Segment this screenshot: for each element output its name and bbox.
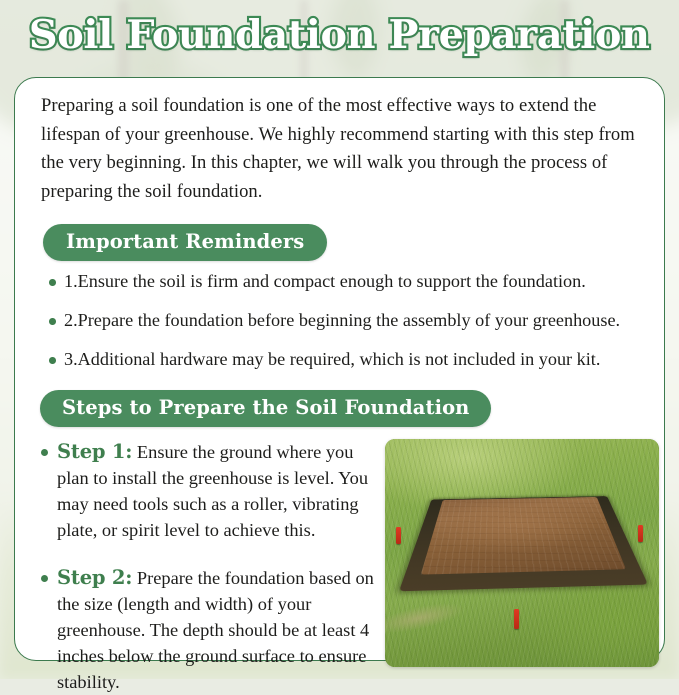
- page-title: Soil Foundation Preparation: [29, 11, 650, 59]
- photo-red-stake-bottom: [514, 609, 519, 629]
- content-card-inner: Preparing a soil foundation is one of th…: [15, 78, 664, 660]
- steps-area: Step 1: Ensure the ground where you plan…: [29, 439, 646, 695]
- step-item: Step 2: Prepare the foundation based on …: [39, 565, 381, 695]
- steps-text-column: Step 1: Ensure the ground where you plan…: [29, 439, 381, 695]
- foundation-pit-photo: [385, 439, 659, 667]
- list-item: 1.Ensure the soil is firm and compact en…: [49, 271, 646, 292]
- photo-red-stake-right: [638, 525, 643, 542]
- list-item: 3.Additional hardware may be required, w…: [49, 349, 646, 370]
- step-label: Step 2:: [57, 566, 132, 589]
- step-label: Step 1:: [57, 440, 132, 463]
- content-card: Preparing a soil foundation is one of th…: [14, 77, 665, 661]
- photo-pit-soil-floor: [421, 497, 626, 575]
- steps-photo-column: [381, 439, 659, 667]
- intro-paragraph: Preparing a soil foundation is one of th…: [29, 92, 646, 206]
- step-item: Step 1: Ensure the ground where you plan…: [39, 439, 381, 543]
- page-title-container: Soil Foundation Preparation: [0, 11, 679, 59]
- list-item: 2.Prepare the foundation before beginnin…: [49, 310, 646, 331]
- important-reminders-badge: Important Reminders: [43, 224, 327, 261]
- photo-red-stake-left: [396, 527, 401, 544]
- steps-to-prepare-badge: Steps to Prepare the Soil Foundation: [40, 390, 491, 427]
- reminders-list: 1.Ensure the soil is firm and compact en…: [29, 271, 646, 370]
